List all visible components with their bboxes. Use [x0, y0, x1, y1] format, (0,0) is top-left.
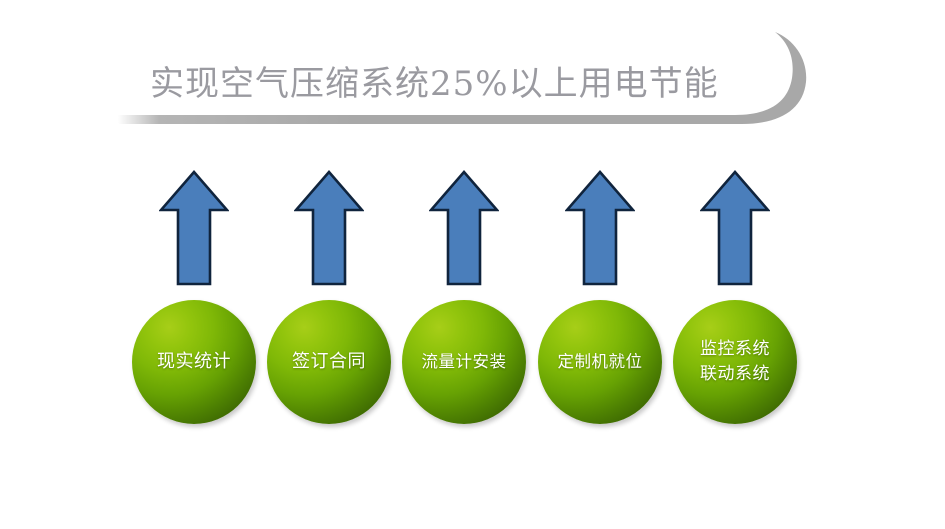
step-label-3: 流量计安装: [418, 351, 511, 372]
up-arrow-icon: [700, 170, 770, 286]
up-arrow-icon: [429, 170, 499, 286]
up-arrow-icon: [294, 170, 364, 286]
process-step-3[interactable]: 流量计安装: [396, 0, 532, 529]
step-label-5: 监控系统 联动系统: [696, 337, 774, 386]
step-label-1: 现实统计: [153, 350, 235, 373]
process-step-1[interactable]: 现实统计: [126, 0, 262, 529]
process-step-2[interactable]: 签订合同: [261, 0, 397, 529]
step-circle-2[interactable]: 签订合同: [267, 300, 391, 424]
step-circle-1[interactable]: 现实统计: [132, 300, 256, 424]
process-step-4[interactable]: 定制机就位: [532, 0, 668, 529]
slide-canvas: 实现空气压缩系统25%以上用电节能 现实统计 签订合同: [0, 0, 945, 529]
process-step-5[interactable]: 监控系统 联动系统: [667, 0, 803, 529]
step-circle-3[interactable]: 流量计安装: [402, 300, 526, 424]
step-circle-4[interactable]: 定制机就位: [538, 300, 662, 424]
step-circle-5[interactable]: 监控系统 联动系统: [673, 300, 797, 424]
process-diagram: 现实统计 签订合同 流量计安装 定: [0, 0, 945, 529]
step-label-4: 定制机就位: [554, 351, 647, 372]
up-arrow-icon: [565, 170, 635, 286]
up-arrow-icon: [159, 170, 229, 286]
step-label-2: 签订合同: [288, 350, 370, 373]
